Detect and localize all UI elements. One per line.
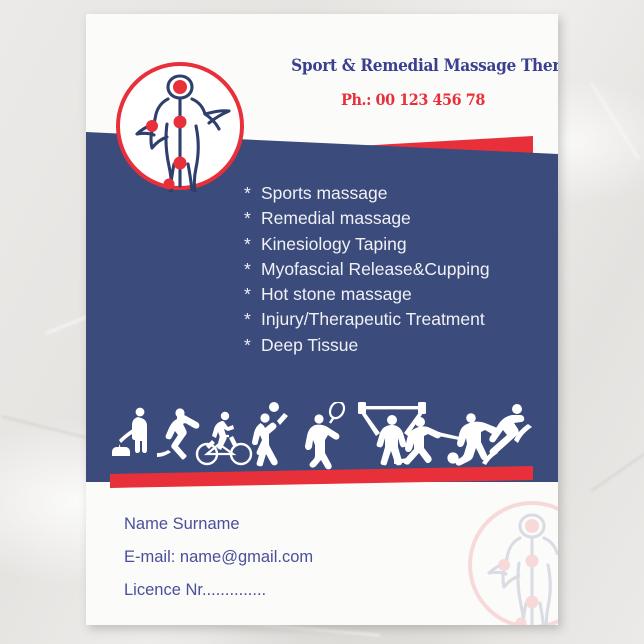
contact-licence: Licence Nr.............. <box>124 574 313 607</box>
diver-icon <box>482 404 532 465</box>
contact-footer: Name Surname E-mail: name@gmail.com Lice… <box>124 508 313 607</box>
lawn-bowls-icon <box>112 408 147 456</box>
list-item-label: Myofascial Release&Cupping <box>261 259 490 279</box>
massage-body-trigger-points-watermark-icon <box>466 499 558 625</box>
list-item: *Injury/Therapeutic Treatment <box>244 307 490 332</box>
massage-body-trigger-points-icon <box>114 60 246 192</box>
bullet-star: * <box>244 257 261 282</box>
contact-name: Name Surname <box>124 508 313 541</box>
list-item-label: Remedial massage <box>261 208 411 228</box>
list-item: *Myofascial Release&Cupping <box>244 257 490 282</box>
volleyball-icon <box>252 402 288 466</box>
contact-email: E-mail: name@gmail.com <box>124 541 313 574</box>
phone-number: Ph.: 00 123 456 78 <box>295 90 531 109</box>
page-title: Sport & Remedial Massage Therapist <box>291 56 535 75</box>
marble-vein <box>590 82 639 159</box>
bullet-star: * <box>244 307 261 332</box>
bullet-star: * <box>244 232 261 257</box>
services-list: *Sports massage *Remedial massage *Kines… <box>244 181 490 358</box>
bullet-star: * <box>244 333 261 358</box>
list-item-label: Deep Tissue <box>261 335 358 355</box>
list-item-label: Kinesiology Taping <box>261 234 407 254</box>
bullet-star: * <box>244 206 261 231</box>
marble-vein <box>591 450 644 492</box>
list-item-label: Hot stone massage <box>261 284 412 304</box>
sports-silhouette-band <box>108 402 536 470</box>
list-item: *Remedial massage <box>244 206 490 231</box>
list-item: *Kinesiology Taping <box>244 232 490 257</box>
runner-icon <box>157 408 199 459</box>
list-item-label: Sports massage <box>261 183 387 203</box>
list-item-label: Injury/Therapeutic Treatment <box>261 309 485 329</box>
tennis-icon <box>305 402 347 469</box>
list-item: *Sports massage <box>244 181 490 206</box>
flyer-page: Sport & Remedial Massage Therapist Ph.: … <box>86 14 558 625</box>
bullet-star: * <box>244 282 261 307</box>
list-item: *Hot stone massage <box>244 282 490 307</box>
bullet-star: * <box>244 181 261 206</box>
cyclist-icon <box>197 412 251 464</box>
list-item: *Deep Tissue <box>244 333 490 358</box>
